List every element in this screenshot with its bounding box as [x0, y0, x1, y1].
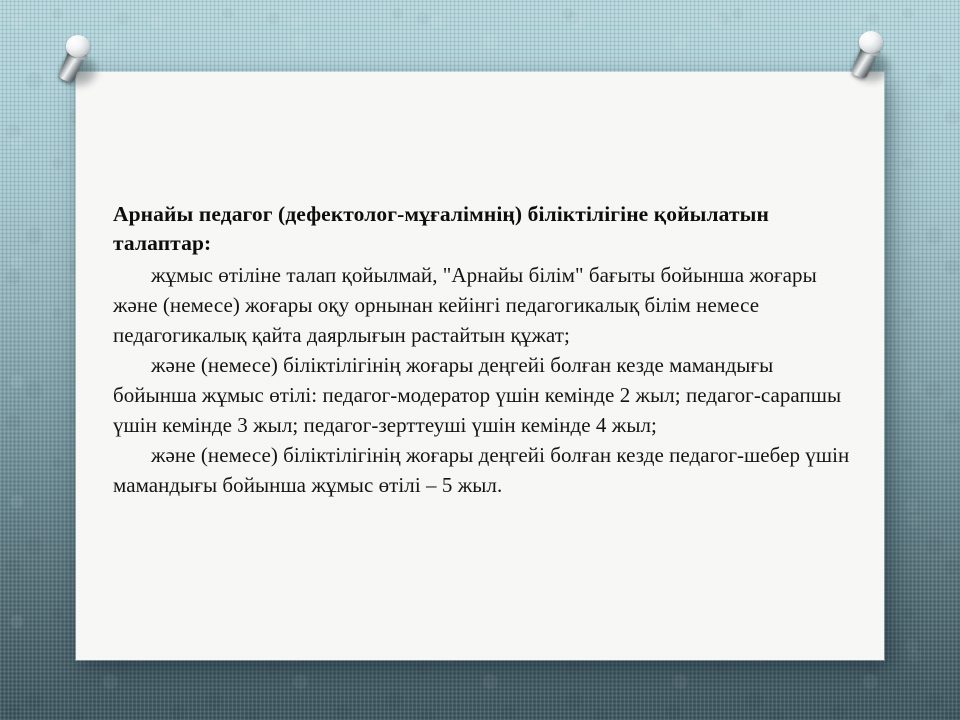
paper-text-body: Арнайы педагог (дефектолог-мұғалімнің) б…	[113, 200, 853, 500]
thumbtack-left-icon	[58, 33, 104, 95]
paper-card: Арнайы педагог (дефектолог-мұғалімнің) б…	[76, 72, 884, 660]
content-paragraph-3: және (немесе) біліктілігінің жоғары деңг…	[113, 440, 853, 500]
thumbtack-right-head	[859, 31, 883, 53]
thumbtack-right-icon	[851, 29, 897, 91]
content-paragraph-1: жұмыс өтіліне талап қойылмай, "Арнайы бі…	[113, 260, 853, 350]
content-heading: Арнайы педагог (дефектолог-мұғалімнің) б…	[113, 200, 853, 258]
slide-canvas: Арнайы педагог (дефектолог-мұғалімнің) б…	[0, 0, 960, 720]
content-paragraph-2: және (немесе) біліктілігінің жоғары деңг…	[113, 350, 853, 440]
thumbtack-left-head	[66, 35, 90, 57]
